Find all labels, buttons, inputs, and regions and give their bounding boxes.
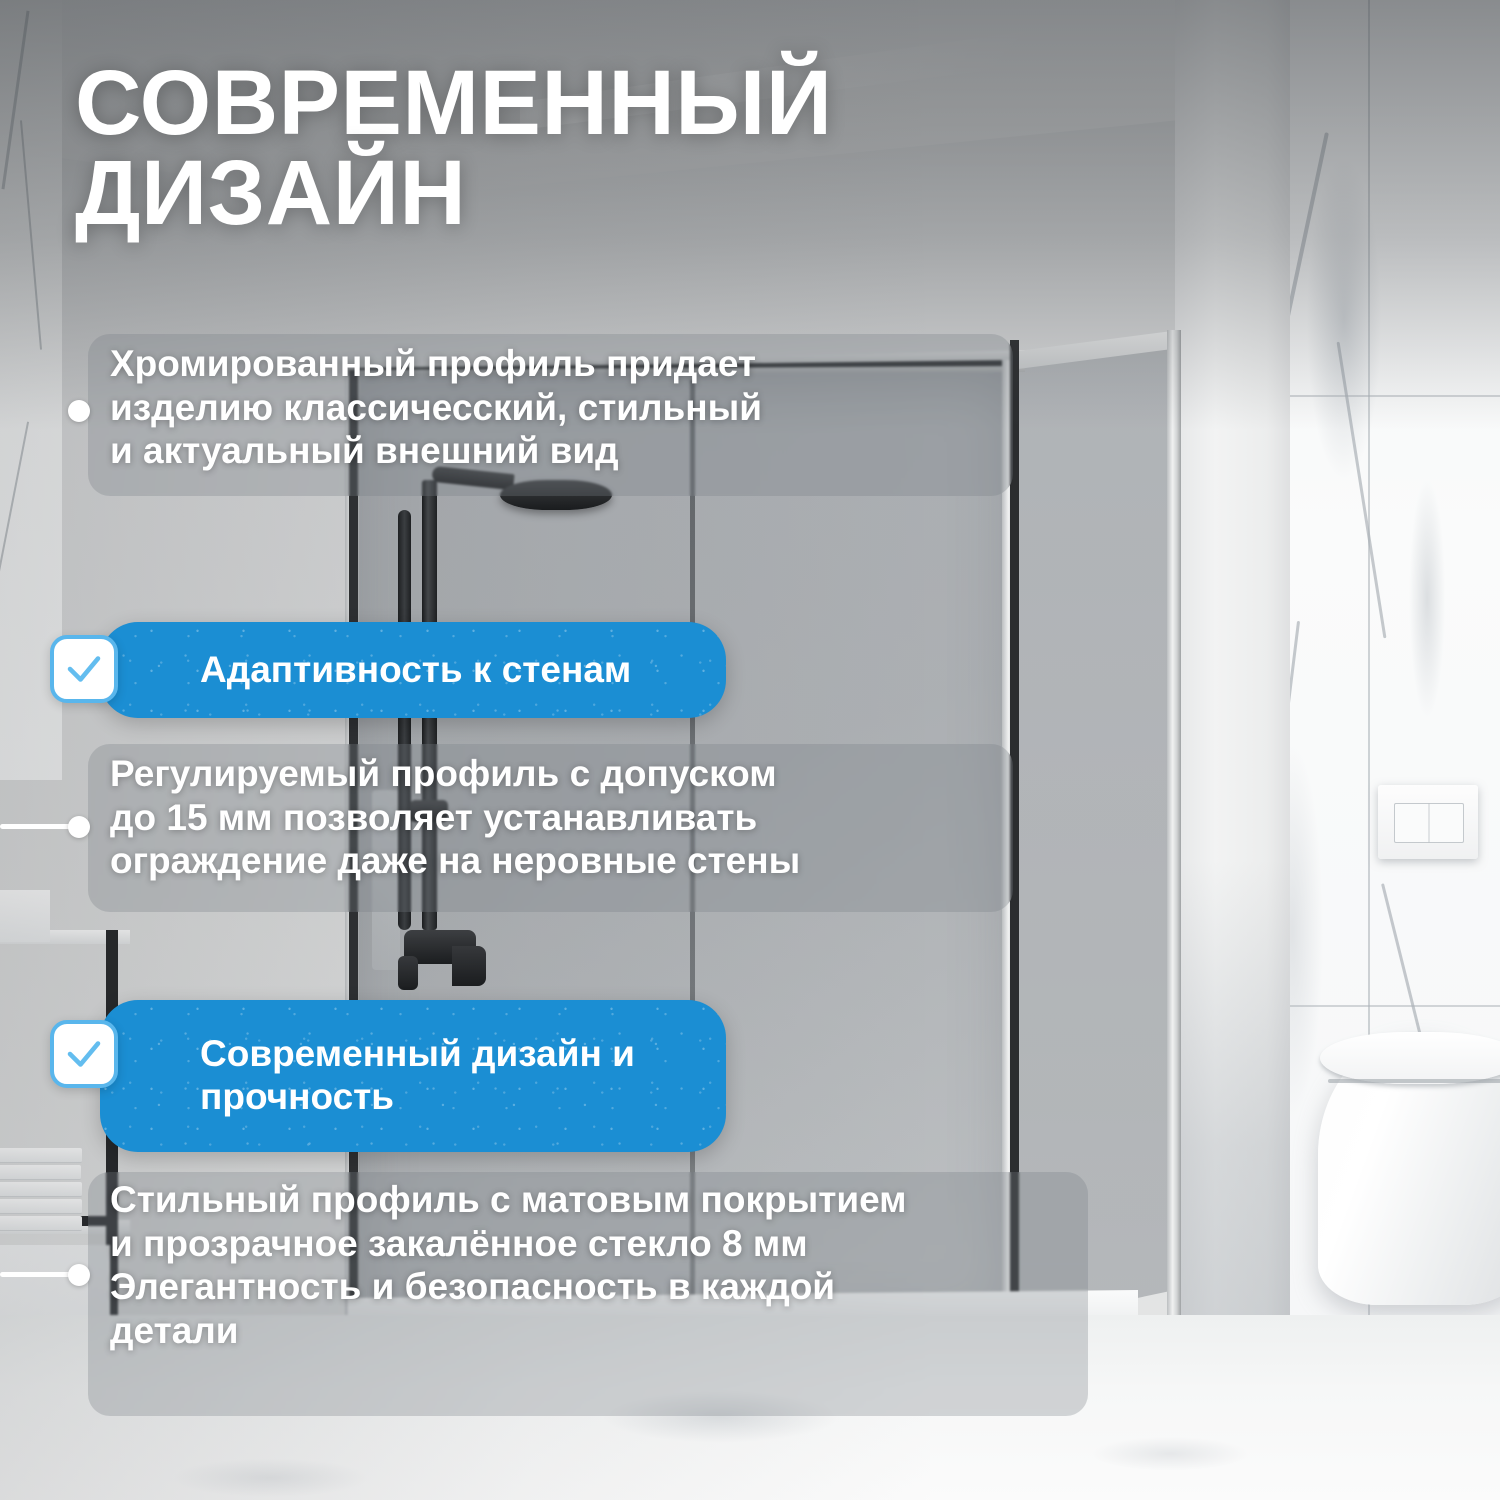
badge-adaptивность[interactable]: Адаптивность к стенам xyxy=(100,622,726,718)
feature-text-1: Хромированный профиль придает изделию кл… xyxy=(110,342,1010,473)
page-title: СОВРЕМЕННЫЙ ДИЗАЙН xyxy=(75,58,975,238)
bullet-marker-2 xyxy=(68,816,90,838)
overlay-content: СОВРЕМЕННЫЙ ДИЗАЙН Хромированный профиль… xyxy=(0,0,1500,1500)
bullet-marker-1 xyxy=(68,400,90,422)
feature-text-2: Регулируемый профиль с допуском до 15 мм… xyxy=(110,752,1010,883)
checkbox-checked-icon xyxy=(50,635,118,703)
bullet-connector-3 xyxy=(0,1272,76,1277)
bullet-marker-3 xyxy=(68,1264,90,1286)
badge-sovremenny-dizayn[interactable]: Современный дизайн и прочность xyxy=(100,1000,726,1152)
bullet-connector-2 xyxy=(0,824,76,829)
badge-label-2: Современный дизайн и прочность xyxy=(200,1033,635,1119)
checkbox-checked-icon xyxy=(50,1020,118,1088)
feature-text-3: Стильный профиль с матовым покрытием и п… xyxy=(110,1178,1100,1353)
badge-label-1: Адаптивность к стенам xyxy=(200,649,631,692)
